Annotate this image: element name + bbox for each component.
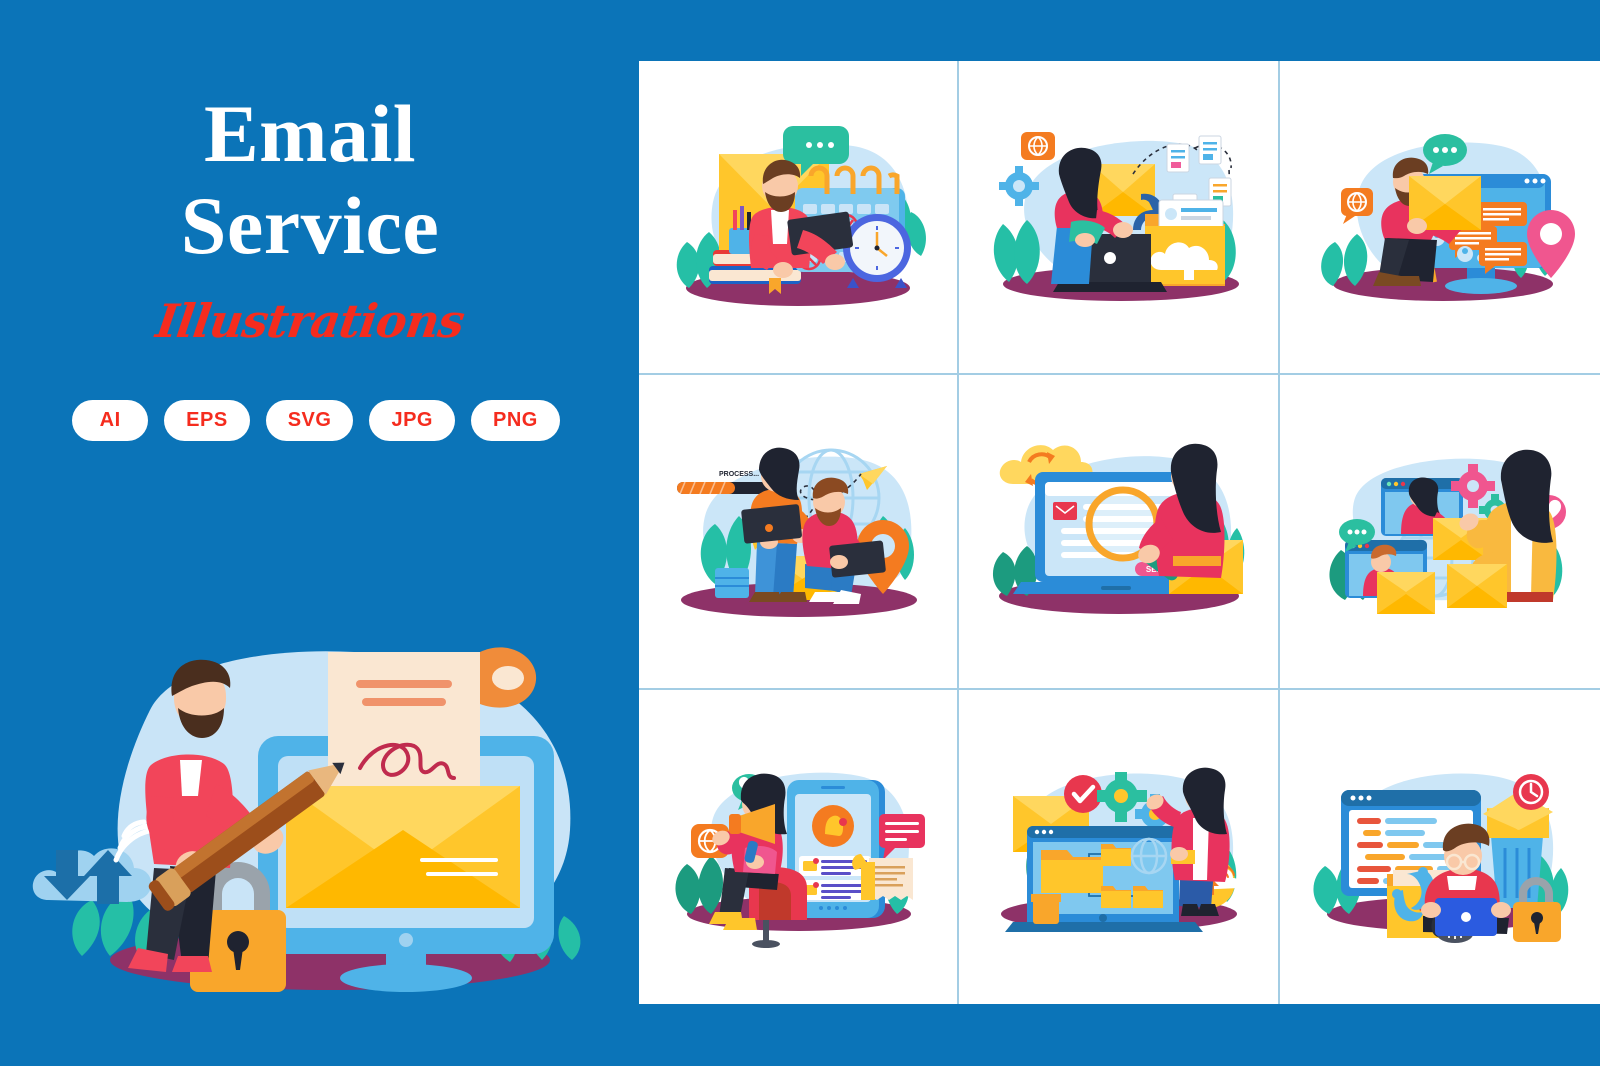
format-badge-jpg[interactable]: JPG bbox=[369, 400, 455, 441]
cell9-clock-badge bbox=[1513, 774, 1549, 810]
cell6-envelope-lower bbox=[1377, 572, 1435, 614]
man-shoe-back bbox=[172, 956, 212, 972]
grid-cell-5[interactable]: SEND bbox=[959, 375, 1279, 689]
format-badge-ai[interactable]: AI bbox=[72, 400, 148, 441]
cell6-browser-window-man bbox=[1345, 540, 1435, 614]
title-block: Email Service Illustrations bbox=[0, 88, 620, 348]
cell6-envelope-held bbox=[1447, 564, 1507, 608]
grid-cell-9[interactable] bbox=[1280, 690, 1600, 1004]
page-subtitle: Illustrations bbox=[0, 294, 624, 348]
cell7-document-scroll bbox=[852, 854, 913, 900]
grid-cell-6[interactable] bbox=[1280, 375, 1600, 689]
cell4-progress-label: PROCESS... bbox=[719, 471, 759, 478]
illustration-pack-preview: Email Service Illustrations AI EPS SVG J… bbox=[0, 0, 1600, 1066]
grid-cell-7[interactable] bbox=[639, 690, 959, 1004]
format-badge-list: AI EPS SVG JPG PNG bbox=[0, 400, 620, 441]
format-badge-svg[interactable]: SVG bbox=[266, 400, 354, 441]
format-badge-png[interactable]: PNG bbox=[471, 400, 560, 441]
cell8-potted-plant bbox=[1031, 894, 1061, 924]
cell4-potted-plant bbox=[715, 568, 749, 598]
yellow-envelope bbox=[286, 786, 520, 908]
cell2-globe-badge bbox=[1021, 132, 1055, 160]
grid-cell-2[interactable] bbox=[959, 61, 1279, 375]
hero-illustration bbox=[30, 600, 610, 1000]
grid-cell-4[interactable]: PROCESS... bbox=[639, 375, 959, 689]
format-badge-eps[interactable]: EPS bbox=[164, 400, 250, 441]
grid-cell-8[interactable] bbox=[959, 690, 1279, 1004]
grid-cell-3[interactable] bbox=[1280, 61, 1600, 375]
illustration-grid: PROCESS... bbox=[639, 61, 1600, 1004]
left-panel: Email Service Illustrations AI EPS SVG J… bbox=[0, 0, 620, 1066]
cell4-progress-bar: PROCESS... bbox=[677, 471, 773, 494]
page-title-line-2: Service bbox=[0, 180, 620, 272]
page-title-line-1: Email bbox=[0, 88, 620, 180]
grid-cell-1[interactable] bbox=[639, 61, 959, 375]
